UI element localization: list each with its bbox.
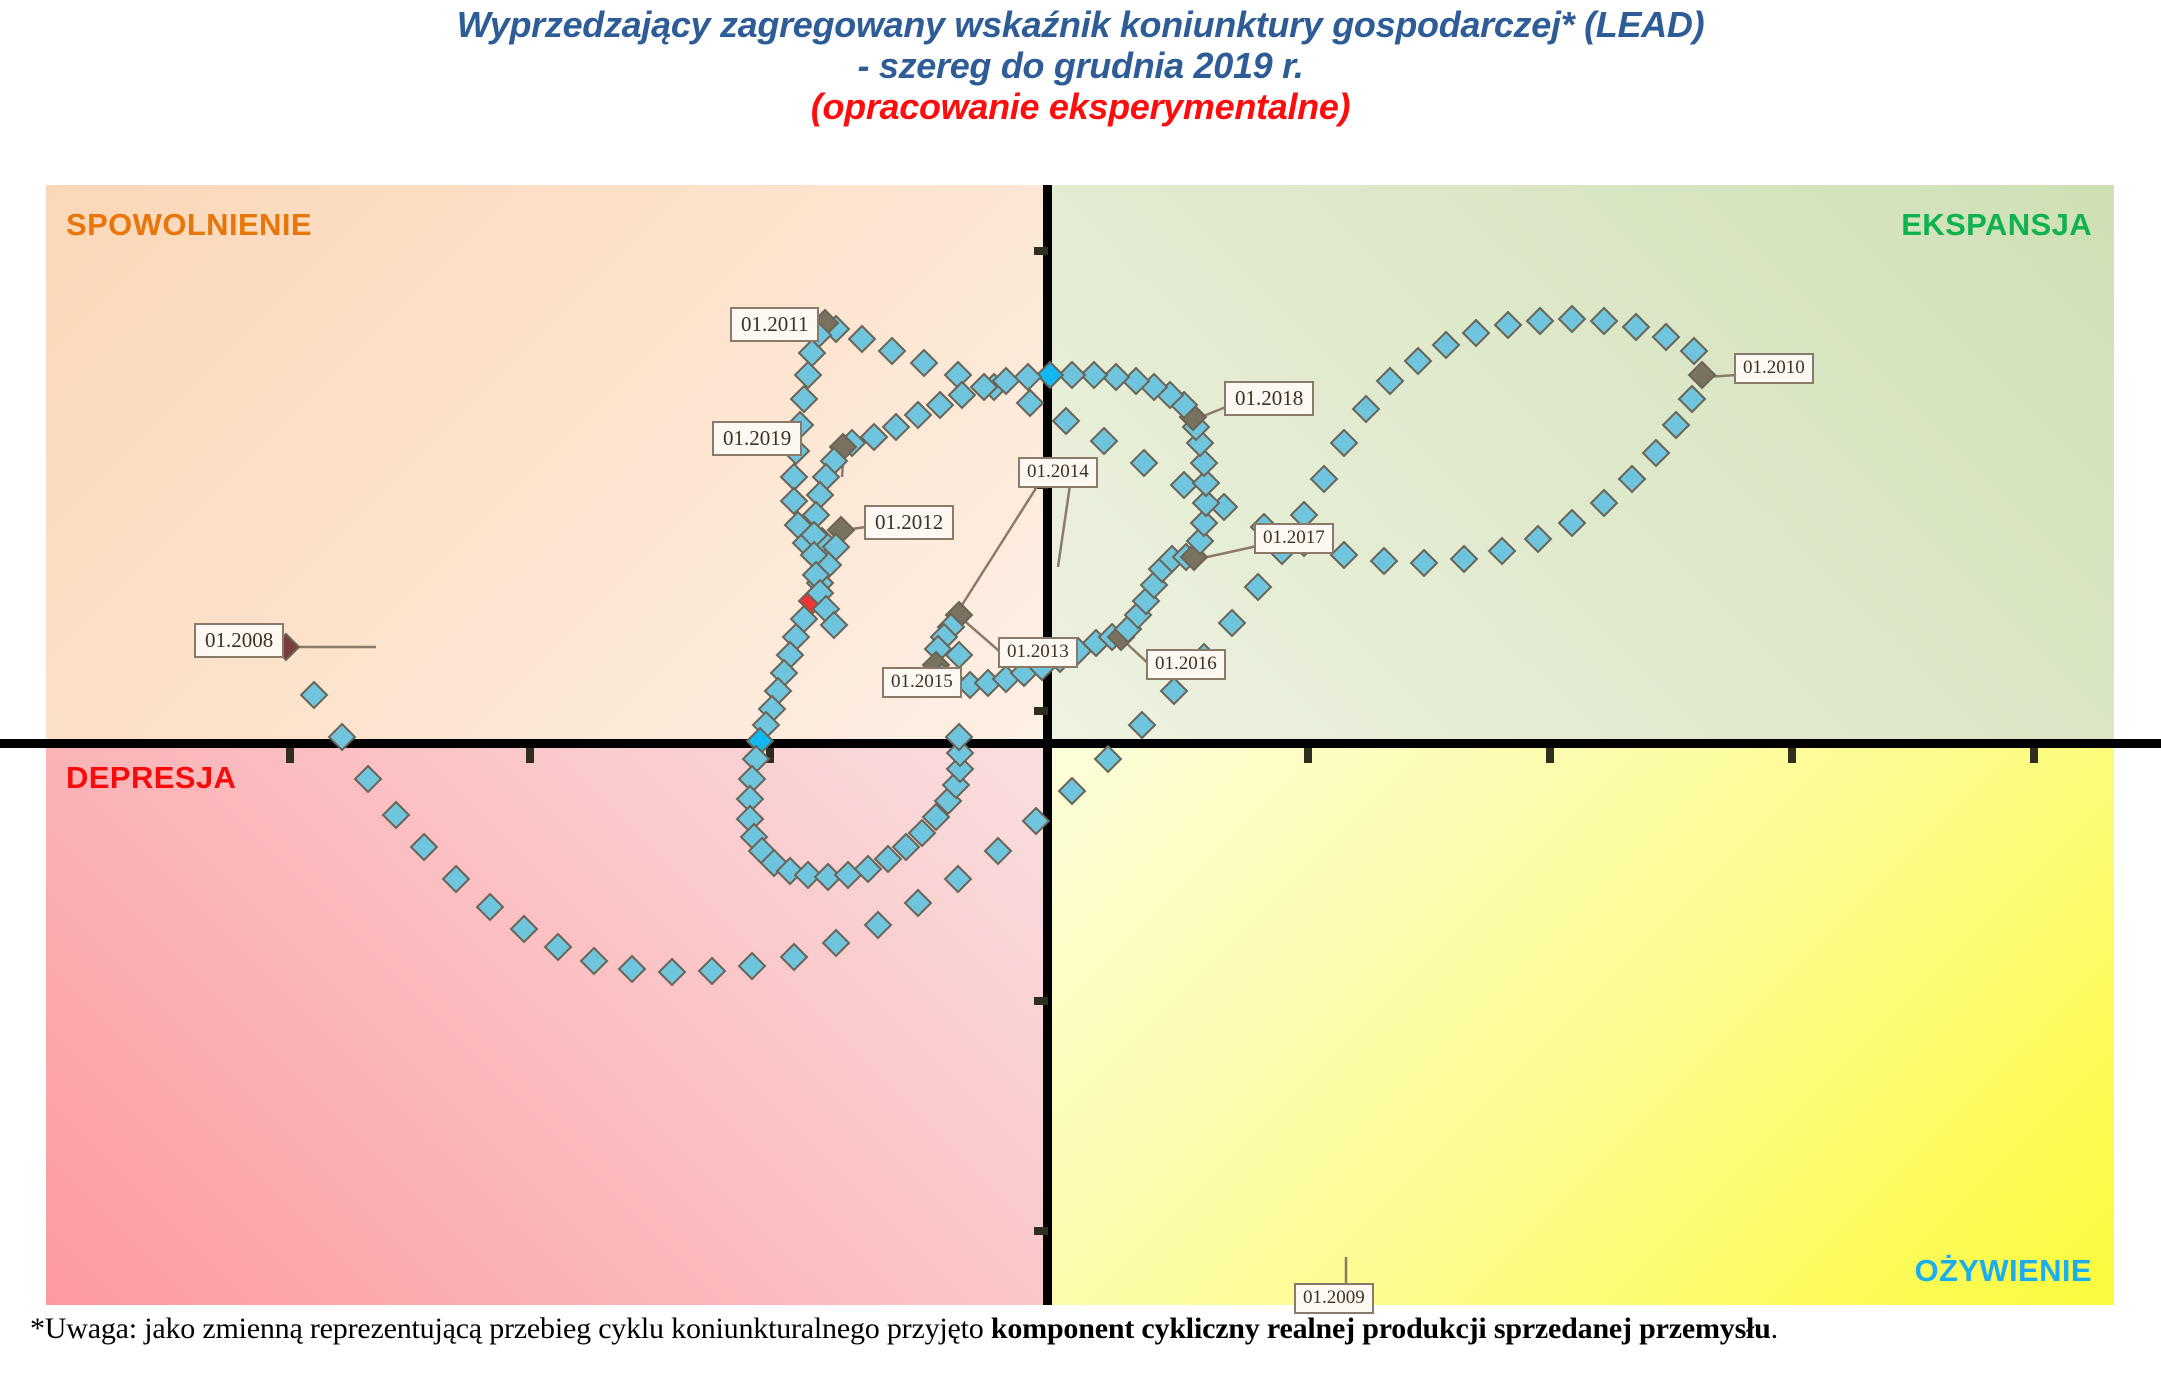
data-point bbox=[781, 464, 807, 490]
data-point bbox=[383, 802, 409, 828]
data-point bbox=[1591, 308, 1617, 334]
data-point bbox=[1095, 746, 1121, 772]
data-point bbox=[1353, 396, 1379, 422]
data-point bbox=[477, 894, 503, 920]
data-point bbox=[1059, 778, 1085, 804]
data-point bbox=[1411, 550, 1437, 576]
data-point bbox=[1525, 526, 1551, 552]
callout-01-2014: 01.2014 bbox=[1018, 457, 1098, 488]
callout-01-2009: 01.2009 bbox=[1294, 1283, 1374, 1314]
data-point bbox=[1679, 386, 1705, 412]
data-point bbox=[1219, 610, 1245, 636]
data-point bbox=[545, 934, 571, 960]
data-point bbox=[1527, 308, 1553, 334]
data-point bbox=[945, 866, 971, 892]
data-point bbox=[1331, 542, 1357, 568]
data-point bbox=[1591, 490, 1617, 516]
data-point bbox=[865, 912, 891, 938]
data-point bbox=[985, 838, 1011, 864]
data-point bbox=[1559, 510, 1585, 536]
data-point bbox=[581, 948, 607, 974]
data-point bbox=[1495, 312, 1521, 338]
data-point bbox=[1451, 546, 1477, 572]
data-point bbox=[1053, 408, 1079, 434]
data-point bbox=[1681, 338, 1707, 364]
data-point bbox=[1623, 314, 1649, 340]
data-point bbox=[1161, 678, 1187, 704]
callout-01-2013: 01.2013 bbox=[998, 637, 1078, 668]
data-point bbox=[411, 834, 437, 860]
callout-leader-lines bbox=[286, 325, 1736, 1289]
data-point bbox=[1091, 428, 1117, 454]
data-point bbox=[1371, 548, 1397, 574]
data-point bbox=[945, 362, 971, 388]
data-point bbox=[659, 959, 685, 985]
data-point bbox=[946, 724, 972, 750]
data-point bbox=[1015, 364, 1041, 390]
data-point bbox=[1017, 390, 1043, 416]
callout-01-2010: 01.2010 bbox=[1734, 353, 1814, 384]
data-point bbox=[1619, 466, 1645, 492]
data-point bbox=[1331, 430, 1357, 456]
data-point bbox=[946, 642, 972, 668]
data-point bbox=[1191, 450, 1217, 476]
data-point bbox=[329, 724, 355, 750]
data-point bbox=[781, 488, 807, 514]
data-point bbox=[1245, 574, 1271, 600]
data-point bbox=[1377, 368, 1403, 394]
data-point bbox=[1129, 712, 1155, 738]
data-point bbox=[1131, 450, 1157, 476]
data-point bbox=[1037, 362, 1063, 388]
data-point-january bbox=[1689, 362, 1715, 388]
footnote-normal: *Uwaga: jako zmienną reprezentującą prze… bbox=[30, 1312, 991, 1345]
data-point bbox=[1433, 332, 1459, 358]
callout-01-2015: 01.2015 bbox=[882, 667, 962, 698]
footnote: *Uwaga: jako zmienną reprezentującą prze… bbox=[30, 1312, 2140, 1346]
data-point bbox=[619, 956, 645, 982]
data-point bbox=[1489, 538, 1515, 564]
data-point bbox=[795, 362, 821, 388]
data-point bbox=[823, 930, 849, 956]
data-point bbox=[1171, 472, 1197, 498]
data-point bbox=[1663, 412, 1689, 438]
title-line-1: Wyprzedzający zagregowany wskaźnik koniu… bbox=[0, 4, 2161, 45]
data-point bbox=[1103, 364, 1129, 390]
data-point bbox=[699, 958, 725, 984]
callout-01-2019: 01.2019 bbox=[712, 421, 802, 456]
data-point bbox=[511, 916, 537, 942]
data-point bbox=[849, 326, 875, 352]
callout-01-2012: 01.2012 bbox=[864, 505, 954, 540]
data-point bbox=[911, 350, 937, 376]
data-point bbox=[443, 866, 469, 892]
callout-01-2011: 01.2011 bbox=[730, 307, 819, 342]
data-point bbox=[1653, 324, 1679, 350]
callout-01-2018: 01.2018 bbox=[1224, 381, 1314, 416]
data-point bbox=[1405, 348, 1431, 374]
data-point bbox=[1023, 808, 1049, 834]
page-title: Wyprzedzający zagregowany wskaźnik koniu… bbox=[0, 4, 2161, 127]
callout-01-2016: 01.2016 bbox=[1146, 649, 1226, 680]
callout-01-2008: 01.2008 bbox=[194, 623, 284, 658]
data-point bbox=[1643, 440, 1669, 466]
data-point bbox=[1311, 466, 1337, 492]
callout-01-2017: 01.2017 bbox=[1254, 523, 1334, 554]
title-line-3-experimental: (opracowanie eksperymentalne) bbox=[0, 86, 2161, 127]
data-point bbox=[905, 890, 931, 916]
data-point bbox=[1559, 306, 1585, 332]
footnote-end: . bbox=[1771, 1312, 1778, 1345]
business-cycle-clock-chart: SPOWOLNIENIE EKSPANSJA DEPRESJA OŻYWIENI… bbox=[46, 185, 2114, 1305]
data-point bbox=[1463, 320, 1489, 346]
title-line-2: - szereg do grudnia 2019 r. bbox=[0, 45, 2161, 86]
data-point bbox=[301, 682, 327, 708]
data-point bbox=[879, 338, 905, 364]
data-point bbox=[739, 953, 765, 979]
data-point bbox=[781, 944, 807, 970]
data-point bbox=[355, 766, 381, 792]
footnote-bold: komponent cykliczny realnej produkcji sp… bbox=[991, 1312, 1771, 1345]
data-point bbox=[791, 386, 817, 412]
